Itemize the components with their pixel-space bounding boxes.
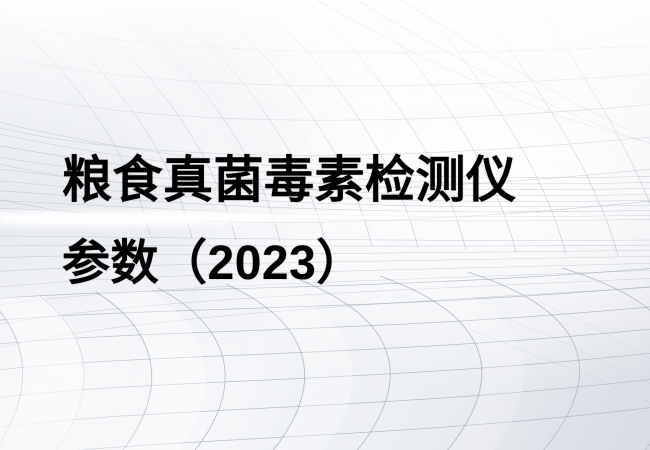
banner-title: 粮食真菌毒素检测仪 参数（2023） bbox=[62, 138, 622, 306]
title-line-secondary: 参数（2023） bbox=[62, 222, 622, 306]
product-title-banner: 粮食真菌毒素检测仪 参数（2023） bbox=[0, 0, 650, 450]
title-line-primary: 粮食真菌毒素检测仪 bbox=[62, 138, 622, 222]
